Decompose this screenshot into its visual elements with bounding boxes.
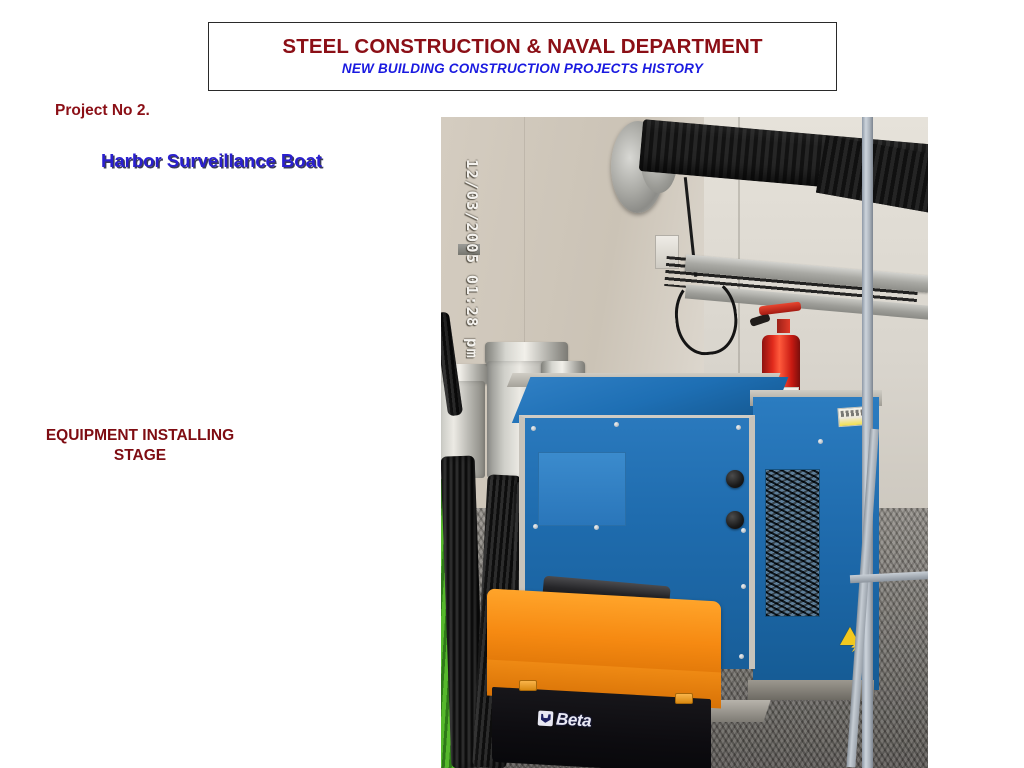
generator-control-knob-lower[interactable] <box>726 511 744 529</box>
project-photo: ⚡ Beta 12/03/2005 01:28 pm <box>441 117 928 768</box>
header-title: STEEL CONSTRUCTION & NAVAL DEPARTMENT <box>282 36 762 59</box>
generator-ventilation-grille <box>765 469 821 617</box>
toolbox-clasp[interactable] <box>675 693 693 704</box>
stage-label: EQUIPMENT INSTALLING STAGE <box>30 426 250 467</box>
toolbox-brand-text: Beta <box>556 710 592 729</box>
generator-access-plate <box>538 452 625 526</box>
slide-page: STEEL CONSTRUCTION & NAVAL DEPARTMENT NE… <box>0 0 1024 768</box>
header-subtitle: NEW BUILDING CONSTRUCTION PROJECTS HISTO… <box>342 61 703 77</box>
toolbox-clasp[interactable] <box>519 680 537 691</box>
photo-timestamp: 12/03/2005 01:28 pm <box>463 159 481 359</box>
panel-screw <box>614 422 619 427</box>
panel-screw <box>594 525 599 530</box>
panel-screw <box>741 584 746 589</box>
panel-screw <box>531 426 536 431</box>
project-number-label: Project No 2. <box>55 102 150 120</box>
extinguisher-neck <box>777 319 790 333</box>
header-banner: STEEL CONSTRUCTION & NAVAL DEPARTMENT NE… <box>208 22 837 91</box>
toolbox-brand-logo: Beta <box>538 709 592 729</box>
panel-screw <box>533 524 538 529</box>
generator-control-knob-upper[interactable] <box>726 470 744 488</box>
beta-bull-icon <box>538 710 554 726</box>
project-title: Harbor Surveillance Boat <box>101 150 322 172</box>
panel-screw <box>736 425 741 430</box>
